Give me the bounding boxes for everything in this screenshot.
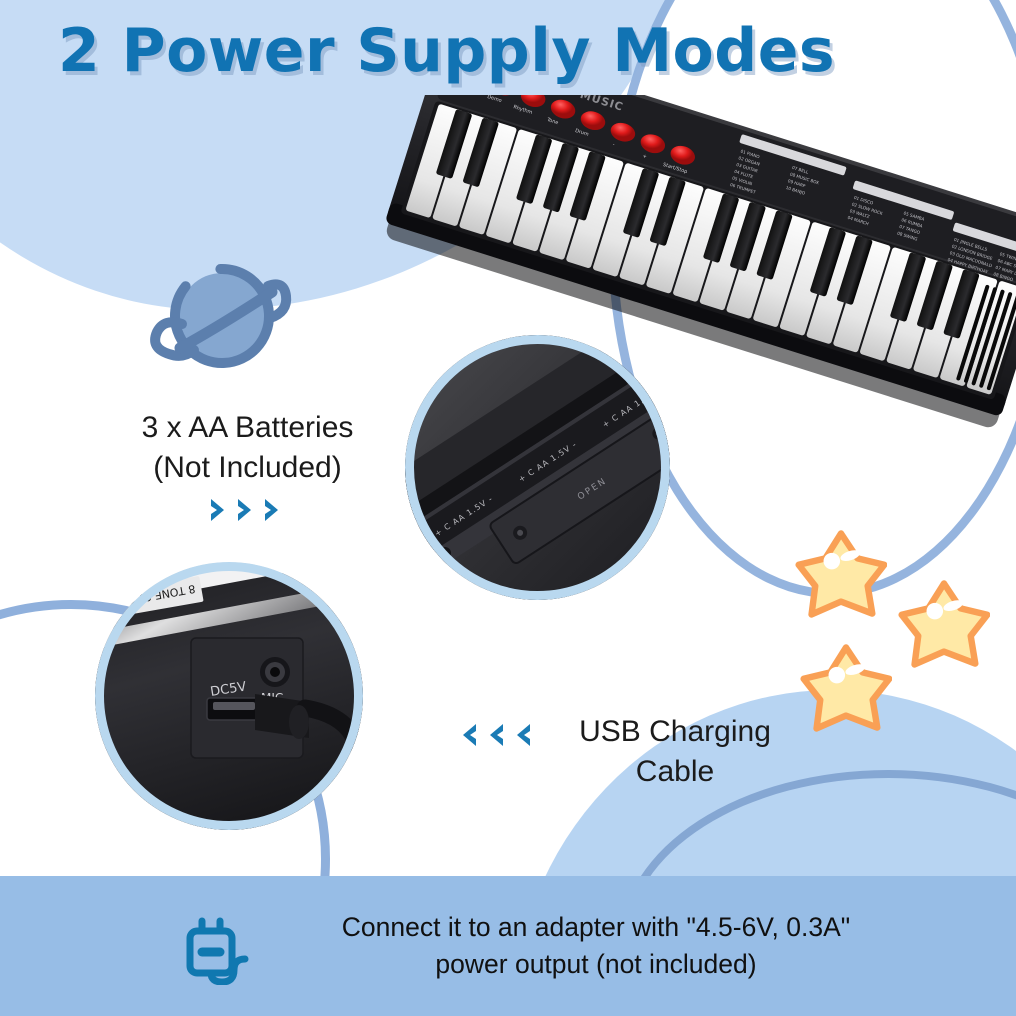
plug-icon xyxy=(182,907,256,985)
battery-compartment-inset: + C AA 1.5V - + C AA 1.5V - + C AA 1.5V … xyxy=(405,335,670,600)
usb-callout-line1: USB Charging xyxy=(520,712,830,752)
chevron-left-icon xyxy=(509,722,532,748)
page-title: 2 Power Supply Modes xyxy=(0,16,1016,86)
chevron-left-icon xyxy=(455,722,478,748)
star-icon xyxy=(898,578,990,670)
usb-callout: USB Charging Cable xyxy=(520,712,830,791)
footer-line2: power output (not included) xyxy=(296,946,896,983)
chevrons-left xyxy=(455,722,532,748)
battery-callout-line1: 3 x AA Batteries xyxy=(60,408,435,448)
footer-line1: Connect it to an adapter with "4.5-6V, 0… xyxy=(296,909,896,946)
battery-callout-line2: (Not Included) xyxy=(60,448,435,488)
infographic-canvas: 2 Power Supply Modes xyxy=(0,0,1016,1016)
chevron-left-icon xyxy=(482,722,505,748)
planet-doodle-icon xyxy=(140,252,300,380)
battery-callout: 3 x AA Batteries (Not Included) xyxy=(60,408,435,523)
chevron-right-icon xyxy=(263,497,286,523)
star-icon xyxy=(795,528,887,620)
chevron-right-icon xyxy=(209,497,232,523)
usb-callout-line2: Cable xyxy=(520,752,830,792)
chevrons-right xyxy=(60,497,435,523)
footer-text: Connect it to an adapter with "4.5-6V, 0… xyxy=(296,909,1016,982)
chevron-right-icon xyxy=(236,497,259,523)
usb-port-inset: 8 TONE 01 PIA DC5V MIC xyxy=(95,562,363,830)
footer-bar: Connect it to an adapter with "4.5-6V, 0… xyxy=(0,876,1016,1016)
